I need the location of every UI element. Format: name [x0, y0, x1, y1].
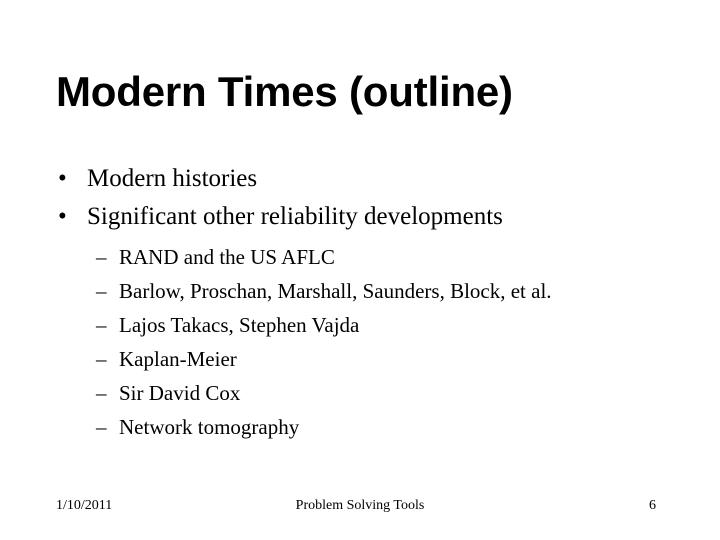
list-item-label: Sir David Cox [119, 381, 240, 405]
list-item-label: Network tomography [119, 415, 299, 439]
list-item-label: Significant other reliability developmen… [87, 203, 503, 230]
bullet-icon: • [58, 160, 78, 198]
slide-number: 6 [600, 494, 656, 518]
list-item: • Significant other reliability developm… [56, 198, 676, 236]
list-item-label: Modern histories [87, 165, 257, 192]
slide-footer: 1/10/2011 Problem Solving Tools 6 [0, 494, 720, 518]
list-item: – Barlow, Proschan, Marshall, Saunders, … [56, 274, 676, 308]
dash-bullet-icon: – [96, 240, 116, 274]
list-item: – Kaplan-Meier [56, 342, 676, 376]
dash-bullet-icon: – [96, 342, 116, 376]
bullet-icon: • [58, 198, 78, 236]
list-item-label: Kaplan-Meier [119, 347, 237, 371]
list-item-label: Lajos Takacs, Stephen Vajda [119, 313, 359, 337]
list-item: – RAND and the US AFLC [56, 240, 676, 274]
dash-bullet-icon: – [96, 274, 116, 308]
dash-bullet-icon: – [96, 376, 116, 410]
dash-bullet-icon: – [96, 308, 116, 342]
list-item: – Network tomography [56, 410, 676, 444]
outline-body: • Modern histories • Significant other r… [56, 160, 676, 444]
list-item-label: Barlow, Proschan, Marshall, Saunders, Bl… [119, 279, 552, 303]
list-item: • Modern histories [56, 160, 676, 198]
dash-bullet-icon: – [96, 410, 116, 444]
list-item: – Lajos Takacs, Stephen Vajda [56, 308, 676, 342]
presentation-slide: Modern Times (outline) • Modern historie… [0, 0, 720, 540]
list-item-label: RAND and the US AFLC [119, 245, 335, 269]
list-item: – Sir David Cox [56, 376, 676, 410]
sub-list: – RAND and the US AFLC – Barlow, Proscha… [56, 240, 676, 444]
page-title: Modern Times (outline) [56, 68, 666, 116]
